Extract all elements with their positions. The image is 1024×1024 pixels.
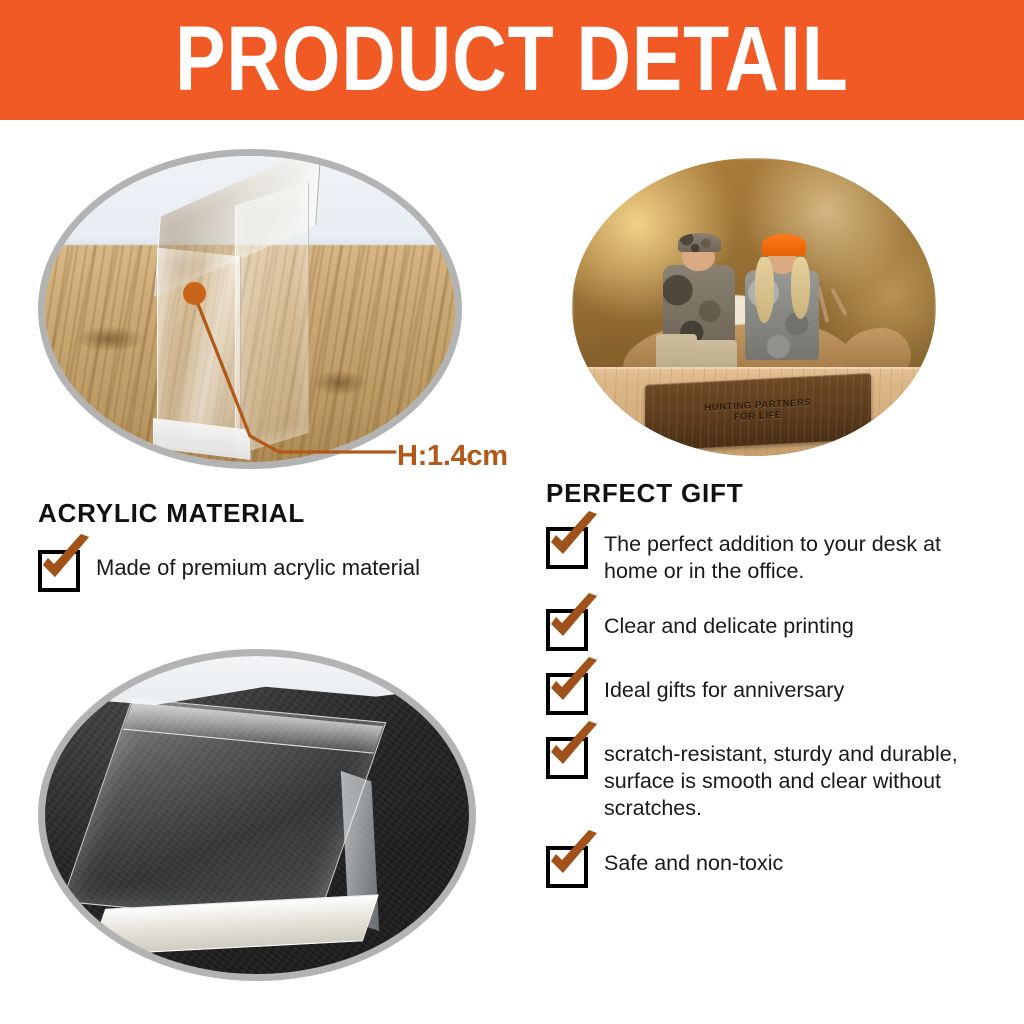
engraved-plaque: HUNTING PARTNERS FOR LIFE [645, 373, 871, 450]
callout-dot-icon [183, 282, 206, 305]
person-man [652, 230, 747, 379]
list-item-label: Made of premium acrylic material [96, 548, 420, 582]
man-camo-cap [678, 233, 722, 252]
acrylic-edge-photo [45, 156, 455, 462]
list-item: The perfect addition to your desk at hom… [546, 525, 996, 585]
checkbox-checked-icon [38, 550, 78, 590]
product-photo-oval: HUNTING PARTNERS FOR LIFE [572, 158, 936, 456]
checkmark-glyph [545, 721, 603, 779]
bullet-list-acrylic-material: Made of premium acrylic material [38, 548, 518, 612]
product-detail-infographic: PRODUCT DETAIL [0, 0, 1024, 1024]
plaque-engraving: HUNTING PARTNERS FOR LIFE [645, 373, 871, 450]
section-heading-perfect-gift: PERFECT GIFT [546, 478, 743, 509]
wood-knot [75, 326, 145, 352]
checkmark-glyph [545, 511, 603, 569]
acrylic-block-photo [45, 656, 469, 974]
woman-hair [755, 257, 774, 322]
checkbox-checked-icon [546, 673, 586, 713]
list-item: scratch-resistant, sturdy and durable, s… [546, 735, 996, 822]
list-item-label: Safe and non-toxic [604, 844, 783, 877]
height-dimension-label: H:1.4cm [397, 440, 508, 473]
checkbox-checked-icon [546, 527, 586, 567]
page-title: PRODUCT DETAIL [41, 0, 983, 127]
bullet-list-perfect-gift: The perfect addition to your desk at hom… [546, 525, 996, 908]
list-item-label: Clear and delicate printing [604, 607, 854, 640]
engraving-line-2: FOR LIFE [734, 410, 782, 423]
checkmark-glyph [37, 534, 95, 592]
checkmark-glyph [545, 830, 603, 888]
checkbox-checked-icon [546, 737, 586, 777]
list-item: Clear and delicate printing [546, 607, 996, 649]
checkbox-checked-icon [546, 609, 586, 649]
section-heading-acrylic-material: ACRYLIC MATERIAL [38, 498, 305, 529]
list-item-label: Ideal gifts for anniversary [604, 671, 844, 704]
person-woman [736, 230, 831, 385]
list-item-label: The perfect addition to your desk at hom… [604, 525, 996, 585]
acrylic-side-face [235, 183, 309, 456]
checkmark-glyph [545, 657, 603, 715]
woman-hair [791, 257, 810, 319]
list-item: Made of premium acrylic material [38, 548, 518, 590]
list-item-label: scratch-resistant, sturdy and durable, s… [604, 735, 996, 822]
list-item: Safe and non-toxic [546, 844, 996, 886]
checkbox-checked-icon [546, 846, 586, 886]
checkmark-glyph [545, 593, 603, 651]
list-item: Ideal gifts for anniversary [546, 671, 996, 713]
woman-orange-cap [762, 234, 806, 256]
wood-knot [313, 370, 367, 396]
